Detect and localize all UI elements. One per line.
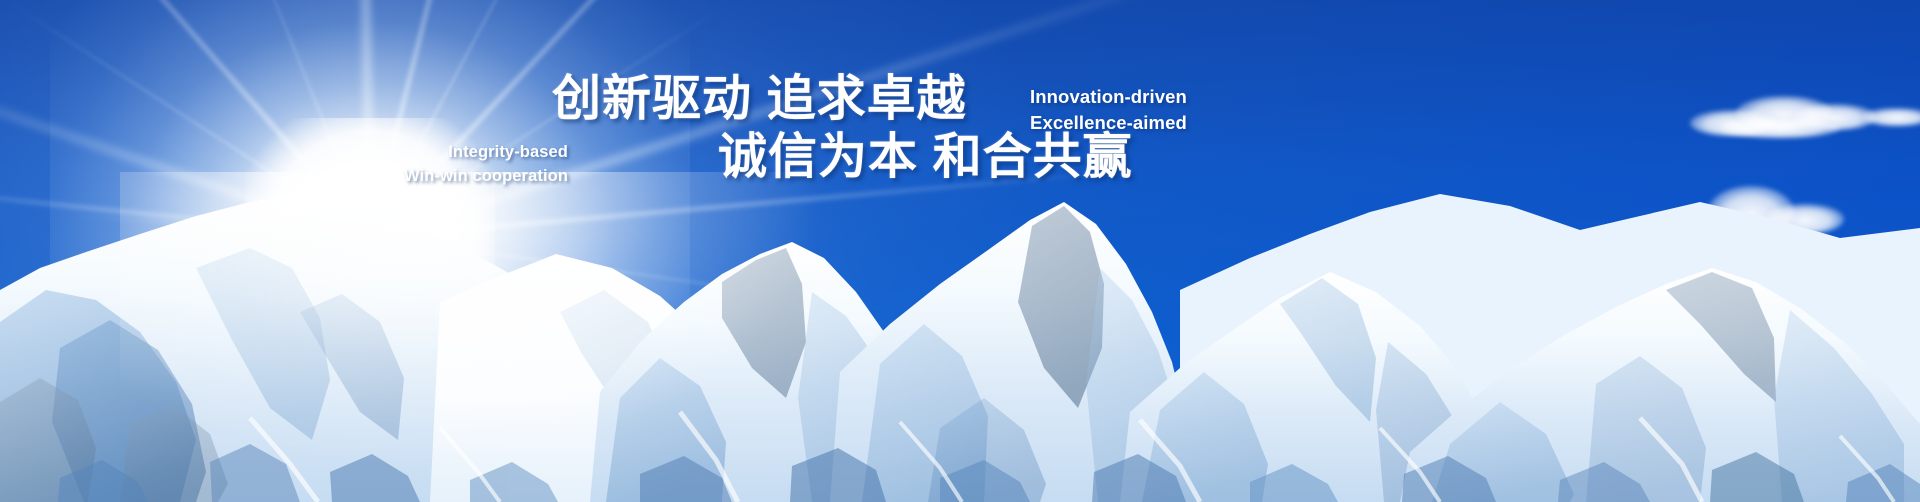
slogan-left-english: Integrity-based Win-win cooperation (268, 141, 568, 189)
slogan-line-1-chinese: 创新驱动 追求卓越 (552, 75, 967, 124)
slogan-right-english: Innovation-driven Excellence-aimed (1030, 84, 1187, 137)
hero-banner: 创新驱动 追求卓越 Innovation-driven Excellence-a… (0, 0, 1920, 502)
slogan-right-english-line1: Innovation-driven (1030, 84, 1187, 110)
slogan-left-english-line1: Integrity-based (268, 141, 568, 165)
slogan-line-2-chinese: 诚信为本 和合共赢 (718, 133, 1133, 182)
slogan-left-english-line2: Win-win cooperation (268, 165, 568, 189)
mountain-range (0, 172, 1920, 502)
